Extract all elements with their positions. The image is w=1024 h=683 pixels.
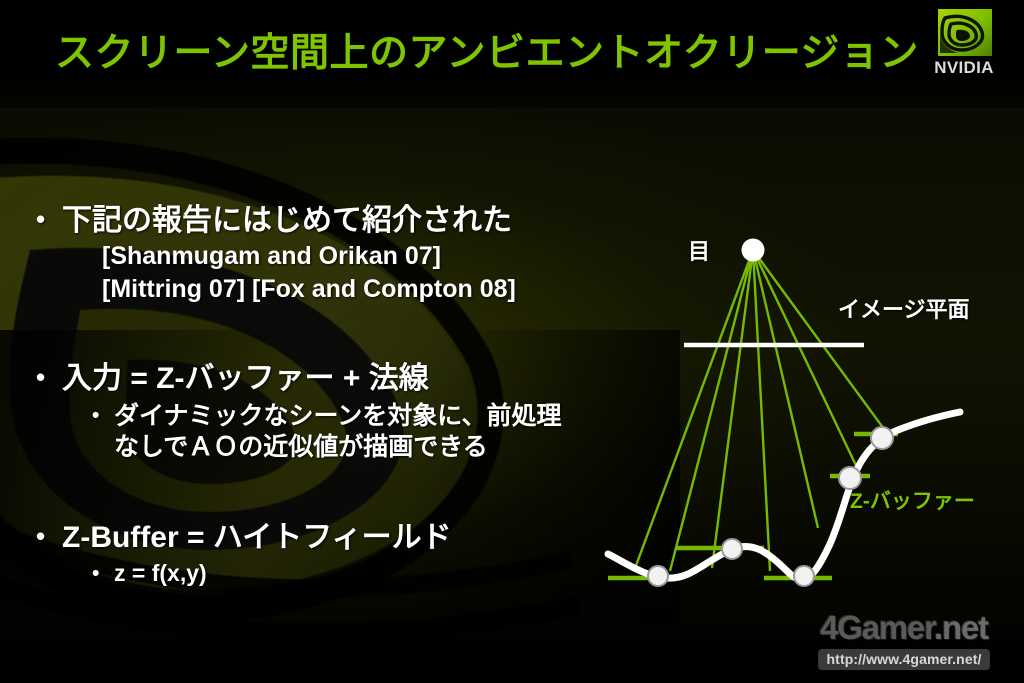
bullet-item-3: • Z-Buffer = ハイトフィールド (36, 521, 616, 556)
bullet-item-2: • 入力 = Z-バッファー + 法線 (36, 362, 616, 397)
citation-line-1: [Shanmugam and Orikan 07] (102, 241, 616, 273)
sub-bullet-marker: • (92, 401, 114, 430)
bullet-item-1: • 下記の報告にはじめて紹介された (36, 204, 616, 239)
bullet-text-2: 入力 = Z-バッファー + 法線 (62, 362, 616, 397)
bullet-text-3: Z-Buffer = ハイトフィールド (62, 521, 616, 556)
image-plane-label: イメージ平面 (838, 292, 970, 324)
slide-canvas: スクリーン空間上のアンビエントオクリージョン NVIDIA • 下記の報告にはじ… (0, 0, 1024, 683)
nvidia-eye-icon (936, 8, 994, 58)
4gamer-brand-suffix: .net (934, 609, 988, 646)
slide-title: スクリーン空間上のアンビエントオクリージョン (55, 22, 919, 78)
4gamer-watermark: 4Gamer.net http://www.4gamer.net/ (800, 611, 1008, 673)
nvidia-wordmark: NVIDIA (918, 58, 1010, 78)
eye-point-dot (742, 239, 765, 262)
bullet-text-1: 下記の報告にはじめて紹介された (62, 204, 616, 239)
sub-bullet-text-2: ダイナミックなシーンを対象に、前処理なしでＡＯの近似値が描画できる (114, 401, 584, 463)
ssao-ray-diagram: 目 イメージ平面 Z-バッファー (592, 226, 1022, 606)
citation-line-2: [Mittring 07] [Fox and Compton 08] (102, 274, 616, 306)
bullet-marker: • (36, 362, 62, 394)
bullet-marker: • (36, 204, 62, 236)
sub-bullet-item-2: • ダイナミックなシーンを対象に、前処理なしでＡＯの近似値が描画できる (92, 401, 616, 463)
4gamer-brand-prefix: 4Gamer (820, 609, 934, 646)
sub-bullet-text-3: z = f(x,y) (114, 559, 584, 588)
nvidia-logo: NVIDIA (918, 8, 1010, 84)
sub-bullet-marker: • (92, 559, 114, 588)
bullet-list: • 下記の報告にはじめて紹介された [Shanmugam and Orikan … (36, 204, 616, 589)
4gamer-brand: 4Gamer.net (800, 611, 1008, 646)
bullet-marker: • (36, 521, 62, 553)
4gamer-url: http://www.4gamer.net/ (818, 649, 991, 670)
diagram-svg (592, 226, 1022, 606)
sub-bullet-item-3: • z = f(x,y) (92, 559, 616, 588)
zbuffer-label: Z-バッファー (850, 485, 975, 515)
eye-label: 目 (688, 234, 710, 266)
